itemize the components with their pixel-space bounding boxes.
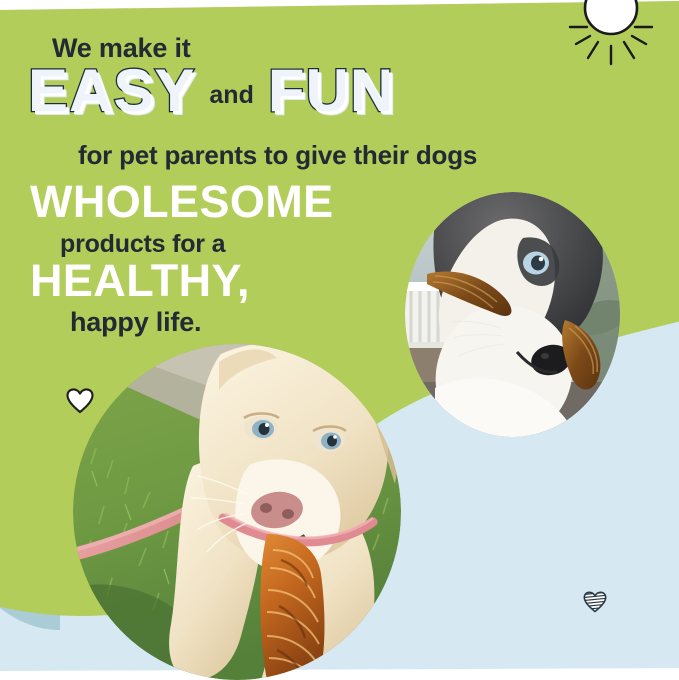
heart-white-icon [66, 388, 94, 414]
promotional-banner: We make it EASY and FUN for pet parents … [0, 0, 679, 680]
sun-icon [556, 0, 666, 72]
photo-husky [405, 192, 620, 437]
photo-dog [73, 344, 401, 680]
heart-striped-icon [583, 591, 607, 613]
